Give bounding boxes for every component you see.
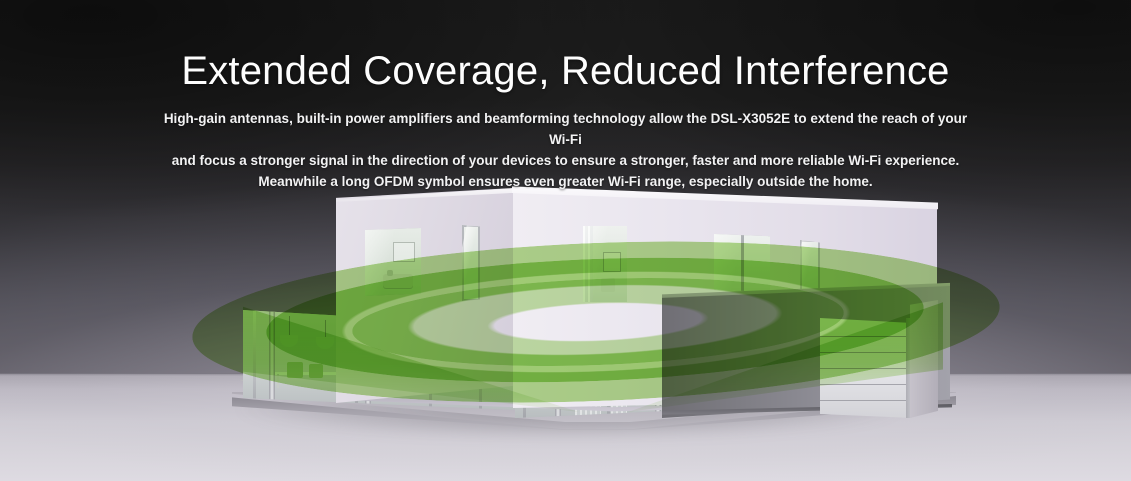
garage-panel-line (820, 368, 912, 369)
upper-window-left-slot (462, 225, 480, 301)
hero-description: High-gain antennas, built-in power ampli… (156, 108, 976, 192)
hero-description-line-1: High-gain antennas, built-in power ampli… (156, 108, 976, 150)
garage-panel-line (820, 352, 912, 353)
upper-window-right-1 (583, 226, 627, 302)
upper-window-left-wide (365, 228, 421, 296)
upper-floor-left-facade (336, 188, 514, 403)
pendant-lamp-cord (289, 316, 290, 336)
glass-glare (800, 240, 817, 292)
sofa-cushion (387, 270, 393, 276)
hero-description-line-2: and focus a stronger signal in the direc… (156, 150, 976, 171)
dining-chair (287, 362, 303, 378)
hero-description-line-3: Meanwhile a long OFDM symbol ensures eve… (156, 171, 976, 192)
sofa (383, 274, 413, 288)
wall-picture (603, 252, 621, 272)
desk-chair (601, 278, 615, 292)
house-right-wall (910, 300, 938, 418)
garage-panel-line (820, 400, 912, 401)
window-mullion (269, 310, 275, 410)
window-mullion (253, 310, 256, 410)
dining-table (271, 372, 345, 375)
hero-banner: Extended Coverage, Reduced Interference … (0, 0, 1131, 481)
pendant-lamp-cord (325, 320, 326, 338)
upper-window-right-2 (714, 234, 770, 292)
glass-glare (462, 225, 480, 301)
hero-copy: Extended Coverage, Reduced Interference … (0, 48, 1131, 192)
dining-chair (309, 364, 323, 378)
upper-window-right-3 (800, 240, 820, 292)
page-title: Extended Coverage, Reduced Interference (0, 48, 1131, 94)
garage-door (820, 318, 912, 418)
garage-panel-line (820, 384, 912, 385)
wall-picture (393, 242, 415, 262)
garage-panel-line (820, 336, 912, 337)
table-leg (277, 374, 279, 388)
